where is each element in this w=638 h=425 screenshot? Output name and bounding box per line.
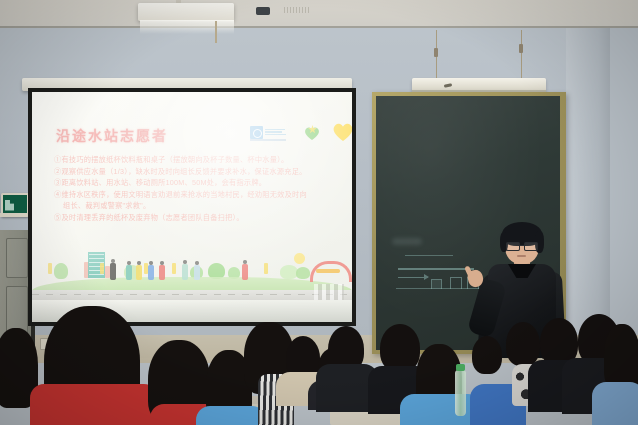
- light-clip-right: [519, 44, 523, 53]
- slide-body: ①有技巧的摆放纸杯饮料瓶和桌子（摆放朝向及杯子数量、杯中水量）。 ②观察供应水量…: [54, 154, 336, 224]
- student-body: [196, 406, 266, 425]
- marathon-illustration: [32, 252, 352, 300]
- banner-2: [100, 263, 104, 274]
- student-body: [30, 384, 158, 425]
- runner-4: [148, 265, 154, 280]
- water-bottle[interactable]: [455, 370, 466, 416]
- slide-line-3: ③距离饮料站、用水站、移动厕所100M、50M处，会有指示牌。: [54, 177, 336, 189]
- exit-running-man-icon: [5, 200, 14, 211]
- runner-7: [194, 265, 200, 280]
- yellow-heart-icon: [332, 122, 352, 141]
- banner-4: [172, 263, 176, 274]
- classroom-photo: 沿途水站志愿者 ①有技巧的摆放纸杯饮料瓶和桌子（摆放朝向及杯子数量、杯中水量）。…: [0, 0, 638, 425]
- illustration-grass: [32, 277, 352, 291]
- projector-cord: [215, 21, 217, 43]
- runner-5: [159, 265, 165, 280]
- organizer-logo-text: [265, 129, 286, 136]
- projector-glow: [140, 20, 234, 34]
- chalk-line-1: [405, 255, 453, 256]
- slide-title: 沿途水站志愿者: [56, 126, 168, 146]
- student-head: [604, 324, 638, 390]
- chalk-arrow-icon: [398, 277, 428, 278]
- speaker-mouth: [517, 255, 526, 257]
- door-panel-upper: [6, 238, 28, 278]
- tree-1: [54, 263, 68, 279]
- chalk-line-2: [398, 268, 474, 270]
- runner-8: [242, 264, 248, 280]
- exit-sign-shelf: [0, 213, 27, 217]
- light-clip-left: [434, 48, 438, 57]
- audience: [0, 300, 638, 425]
- runner-6: [182, 264, 188, 280]
- organizer-logo-subtext: [250, 139, 286, 141]
- slide-logos: [250, 122, 348, 142]
- glasses-icon: [506, 242, 538, 249]
- chalk-smudge: [392, 238, 422, 245]
- finish-line-checker: [314, 284, 344, 300]
- organizer-logo-mark-icon: [250, 126, 263, 139]
- student-head: [506, 322, 540, 366]
- projector-lens-icon: [256, 7, 270, 15]
- runner-3: [136, 265, 142, 280]
- projector-vent: [284, 7, 310, 13]
- sun-icon: [294, 253, 305, 264]
- banner-5: [264, 263, 268, 274]
- banner-1: [48, 263, 52, 274]
- projection-screen: 沿途水站志愿者 ①有技巧的摆放纸杯饮料瓶和桌子（摆放朝向及杯子数量、杯中水量）。…: [32, 92, 352, 322]
- student-head: [472, 336, 502, 374]
- chalk-line-3: [396, 288, 482, 289]
- runner-1: [110, 263, 116, 280]
- green-star-heart-logo: [302, 123, 324, 141]
- finish-arch-banner: [316, 269, 340, 273]
- student-head: [380, 324, 420, 372]
- slide-line-1: ①有技巧的摆放纸杯饮料瓶和桌子（摆放朝向及杯子数量、杯中水量）。: [54, 154, 336, 166]
- student-body: [592, 382, 638, 425]
- light-suspension-wire-right: [521, 30, 522, 80]
- slide-line-5: 组长、裁判或警察"求救"。: [54, 200, 336, 212]
- runner-2: [126, 265, 132, 280]
- tree-7: [296, 267, 310, 279]
- ceiling-projector: [138, 3, 234, 21]
- water-bottle-cap: [456, 364, 465, 371]
- illustration-road: [32, 290, 352, 300]
- slide-line-2: ②观察供应水量（1/3），缺水时及时向组长反馈并要求补水，保证水源充足。: [54, 166, 336, 178]
- organizer-logo: [250, 124, 288, 140]
- slide-line-6: ⑤及时清理丢弃的纸杯及废弃物（志愿者团队自备扫把）。: [54, 212, 336, 224]
- slide-line-4: ④维持水区秩序，使用文明语言劝退前来抢水的当地村民，经劝阻无效及时向: [54, 189, 336, 201]
